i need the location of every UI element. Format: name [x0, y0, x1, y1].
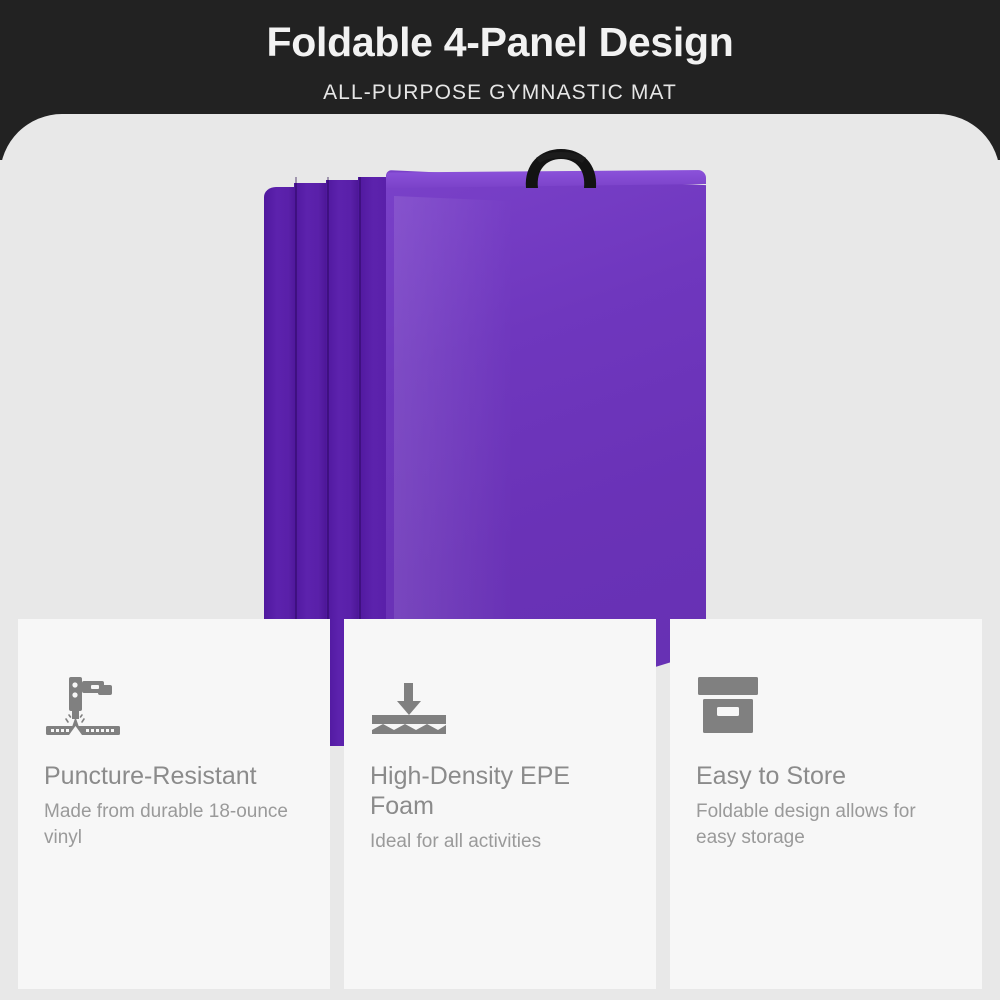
- feature-title: Puncture-Resistant: [44, 761, 304, 791]
- product-stage: Puncture-Resistant Made from durable 18-…: [0, 114, 1000, 1000]
- feature-card-easy-to-store: Easy to Store Foldable design allows for…: [670, 619, 982, 989]
- storage-box-icon: [696, 657, 956, 735]
- feature-card-row: Puncture-Resistant Made from durable 18-…: [0, 619, 1000, 989]
- feature-title: Easy to Store: [696, 761, 956, 791]
- feature-description: Made from durable 18-ounce vinyl: [44, 799, 304, 851]
- puncture-drill-icon: [44, 657, 304, 735]
- foam-compression-icon: [370, 657, 630, 735]
- feature-card-puncture-resistant: Puncture-Resistant Made from durable 18-…: [18, 619, 330, 989]
- carry-handle-icon: [520, 146, 602, 188]
- feature-title: High-Density EPE Foam: [370, 761, 630, 821]
- page-subtitle: ALL-PURPOSE GYMNASTIC MAT: [0, 80, 1000, 106]
- feature-description: Foldable design allows for easy storage: [696, 799, 956, 851]
- feature-description: Ideal for all activities: [370, 829, 630, 855]
- page-title: Foldable 4-Panel Design: [0, 18, 1000, 66]
- feature-card-high-density-foam: High-Density EPE Foam Ideal for all acti…: [344, 619, 656, 989]
- infographic-page: Foldable 4-Panel Design ALL-PURPOSE GYMN…: [0, 0, 1000, 1000]
